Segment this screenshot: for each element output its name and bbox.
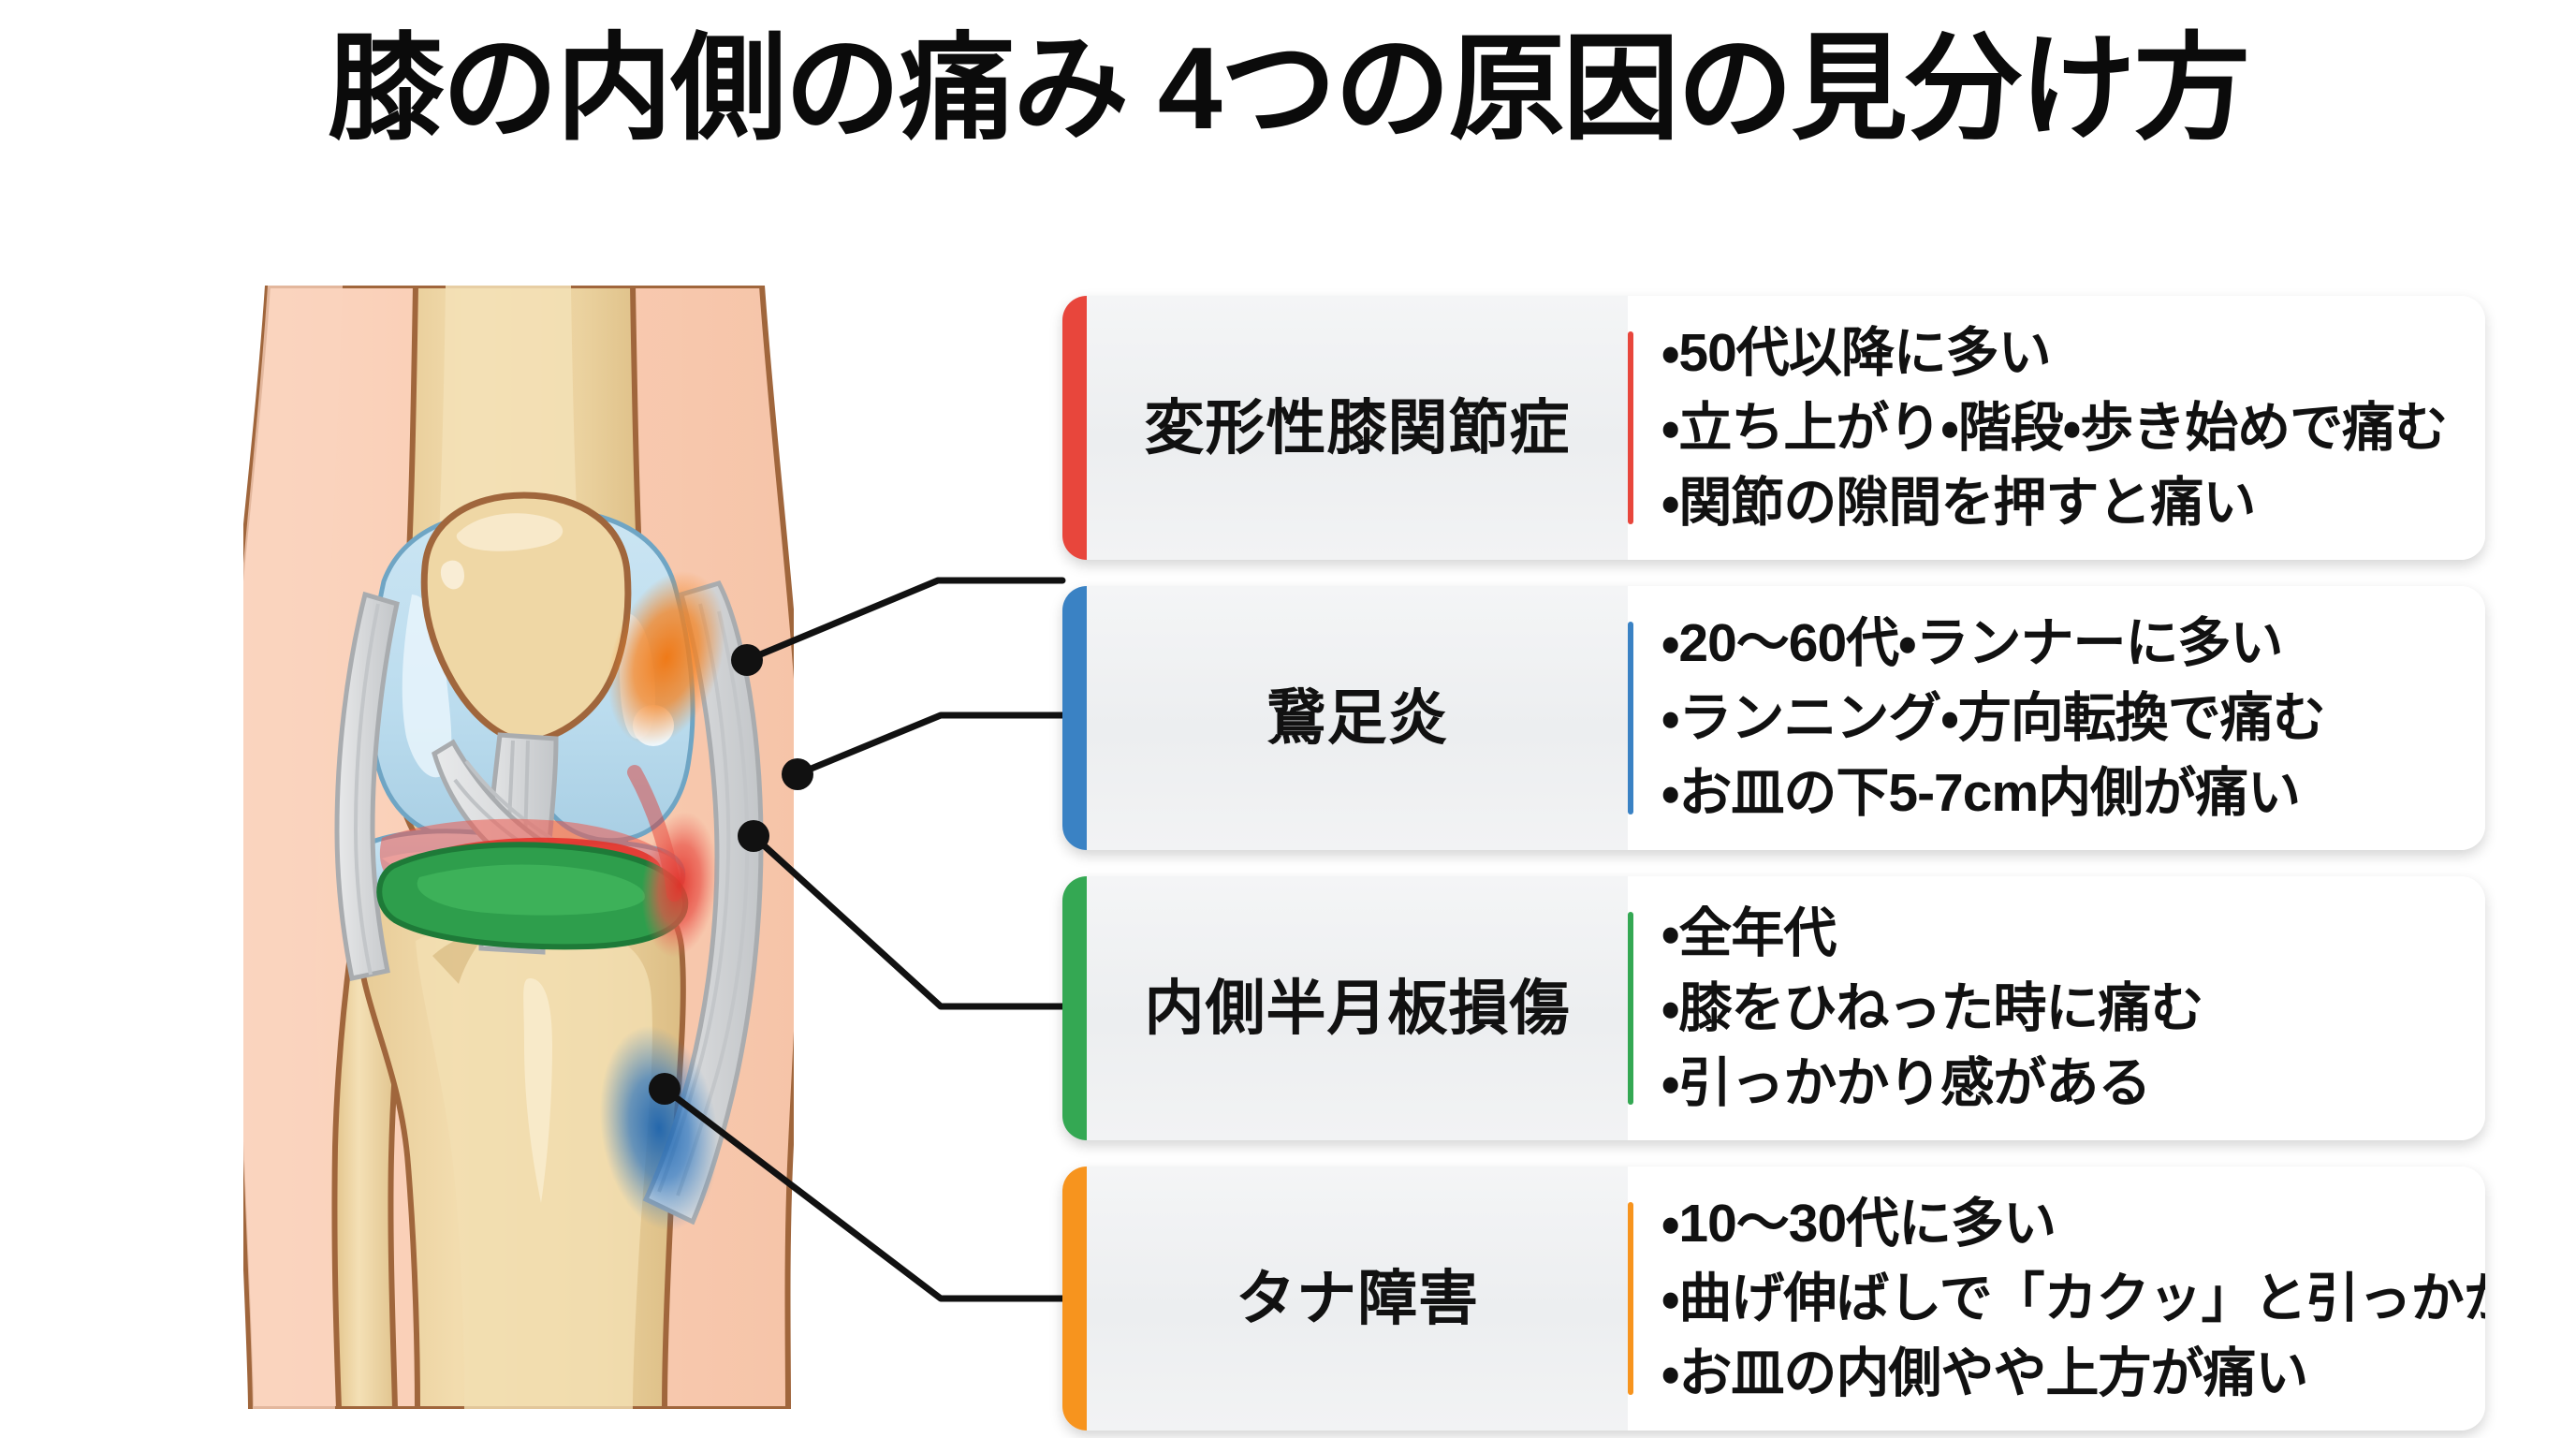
condition-bullets: ・50代以降に多い ・立ち上がり・階段・歩き始めで痛む ・関節の隙間を押すと痛い [1633,296,2485,560]
bullet-item: ・ランニング・方向転換で痛む [1661,683,2461,753]
bullet-item: ・20〜60代・ランナーに多い [1661,609,2461,678]
bullet-item: ・立ち上がり・階段・歩き始めで痛む [1661,393,2461,462]
accent-bar [1062,296,1087,560]
bullet-item: ・膝をひねった時に痛む [1661,974,2461,1043]
condition-name: タナ障害 [1236,1269,1479,1328]
condition-name-panel: 鵞足炎 [1087,586,1628,850]
condition-name: 鵞足炎 [1266,688,1449,748]
bullet-item: ・全年代 [1661,899,2461,968]
condition-name-panel: タナ障害 [1087,1167,1628,1431]
bullet-item: ・10〜30代に多い [1661,1189,2485,1258]
accent-bar [1062,586,1087,850]
condition-bullets: ・20〜60代・ランナーに多い ・ランニング・方向転換で痛む ・お皿の下5-7c… [1633,586,2485,850]
accent-bar [1062,1167,1087,1431]
knee-anatomy-illustration [195,286,841,1409]
bullet-item: ・曲げ伸ばしで「カクッ」と引っかかる [1661,1264,2485,1333]
condition-bullets: ・全年代 ・膝をひねった時に痛む ・引っかかり感がある [1633,876,2485,1140]
condition-name: 変形性膝関節症 [1145,398,1571,458]
condition-card-medial-meniscus[interactable]: 内側半月板損傷 ・全年代 ・膝をひねった時に痛む ・引っかかり感がある [1062,876,2485,1140]
condition-name-panel: 変形性膝関節症 [1087,296,1628,560]
condition-card-pes-anserine[interactable]: 鵞足炎 ・20〜60代・ランナーに多い ・ランニング・方向転換で痛む ・お皿の下… [1062,586,2485,850]
bullet-item: ・引っかかり感がある [1661,1049,2461,1118]
bullet-item: ・50代以降に多い [1661,318,2461,388]
bullet-item: ・お皿の内側やや上方が痛い [1661,1339,2485,1408]
condition-bullets: ・10〜30代に多い ・曲げ伸ばしで「カクッ」と引っかかる ・お皿の内側やや上方… [1633,1167,2485,1431]
bullet-item: ・関節の隙間を押すと痛い [1661,468,2461,537]
condition-card-plica[interactable]: タナ障害 ・10〜30代に多い ・曲げ伸ばしで「カクッ」と引っかかる ・お皿の内… [1062,1167,2485,1431]
page-title: 膝の内側の痛み 4つの原因の見分け方 [0,22,2576,156]
condition-card-osteoarthritis[interactable]: 変形性膝関節症 ・50代以降に多い ・立ち上がり・階段・歩き始めで痛む ・関節の… [1062,296,2485,560]
accent-bar [1062,876,1087,1140]
bullet-item: ・お皿の下5-7cm内側が痛い [1661,758,2461,828]
condition-name-panel: 内側半月板損傷 [1087,876,1628,1140]
condition-name: 内側半月板損傷 [1145,978,1571,1038]
